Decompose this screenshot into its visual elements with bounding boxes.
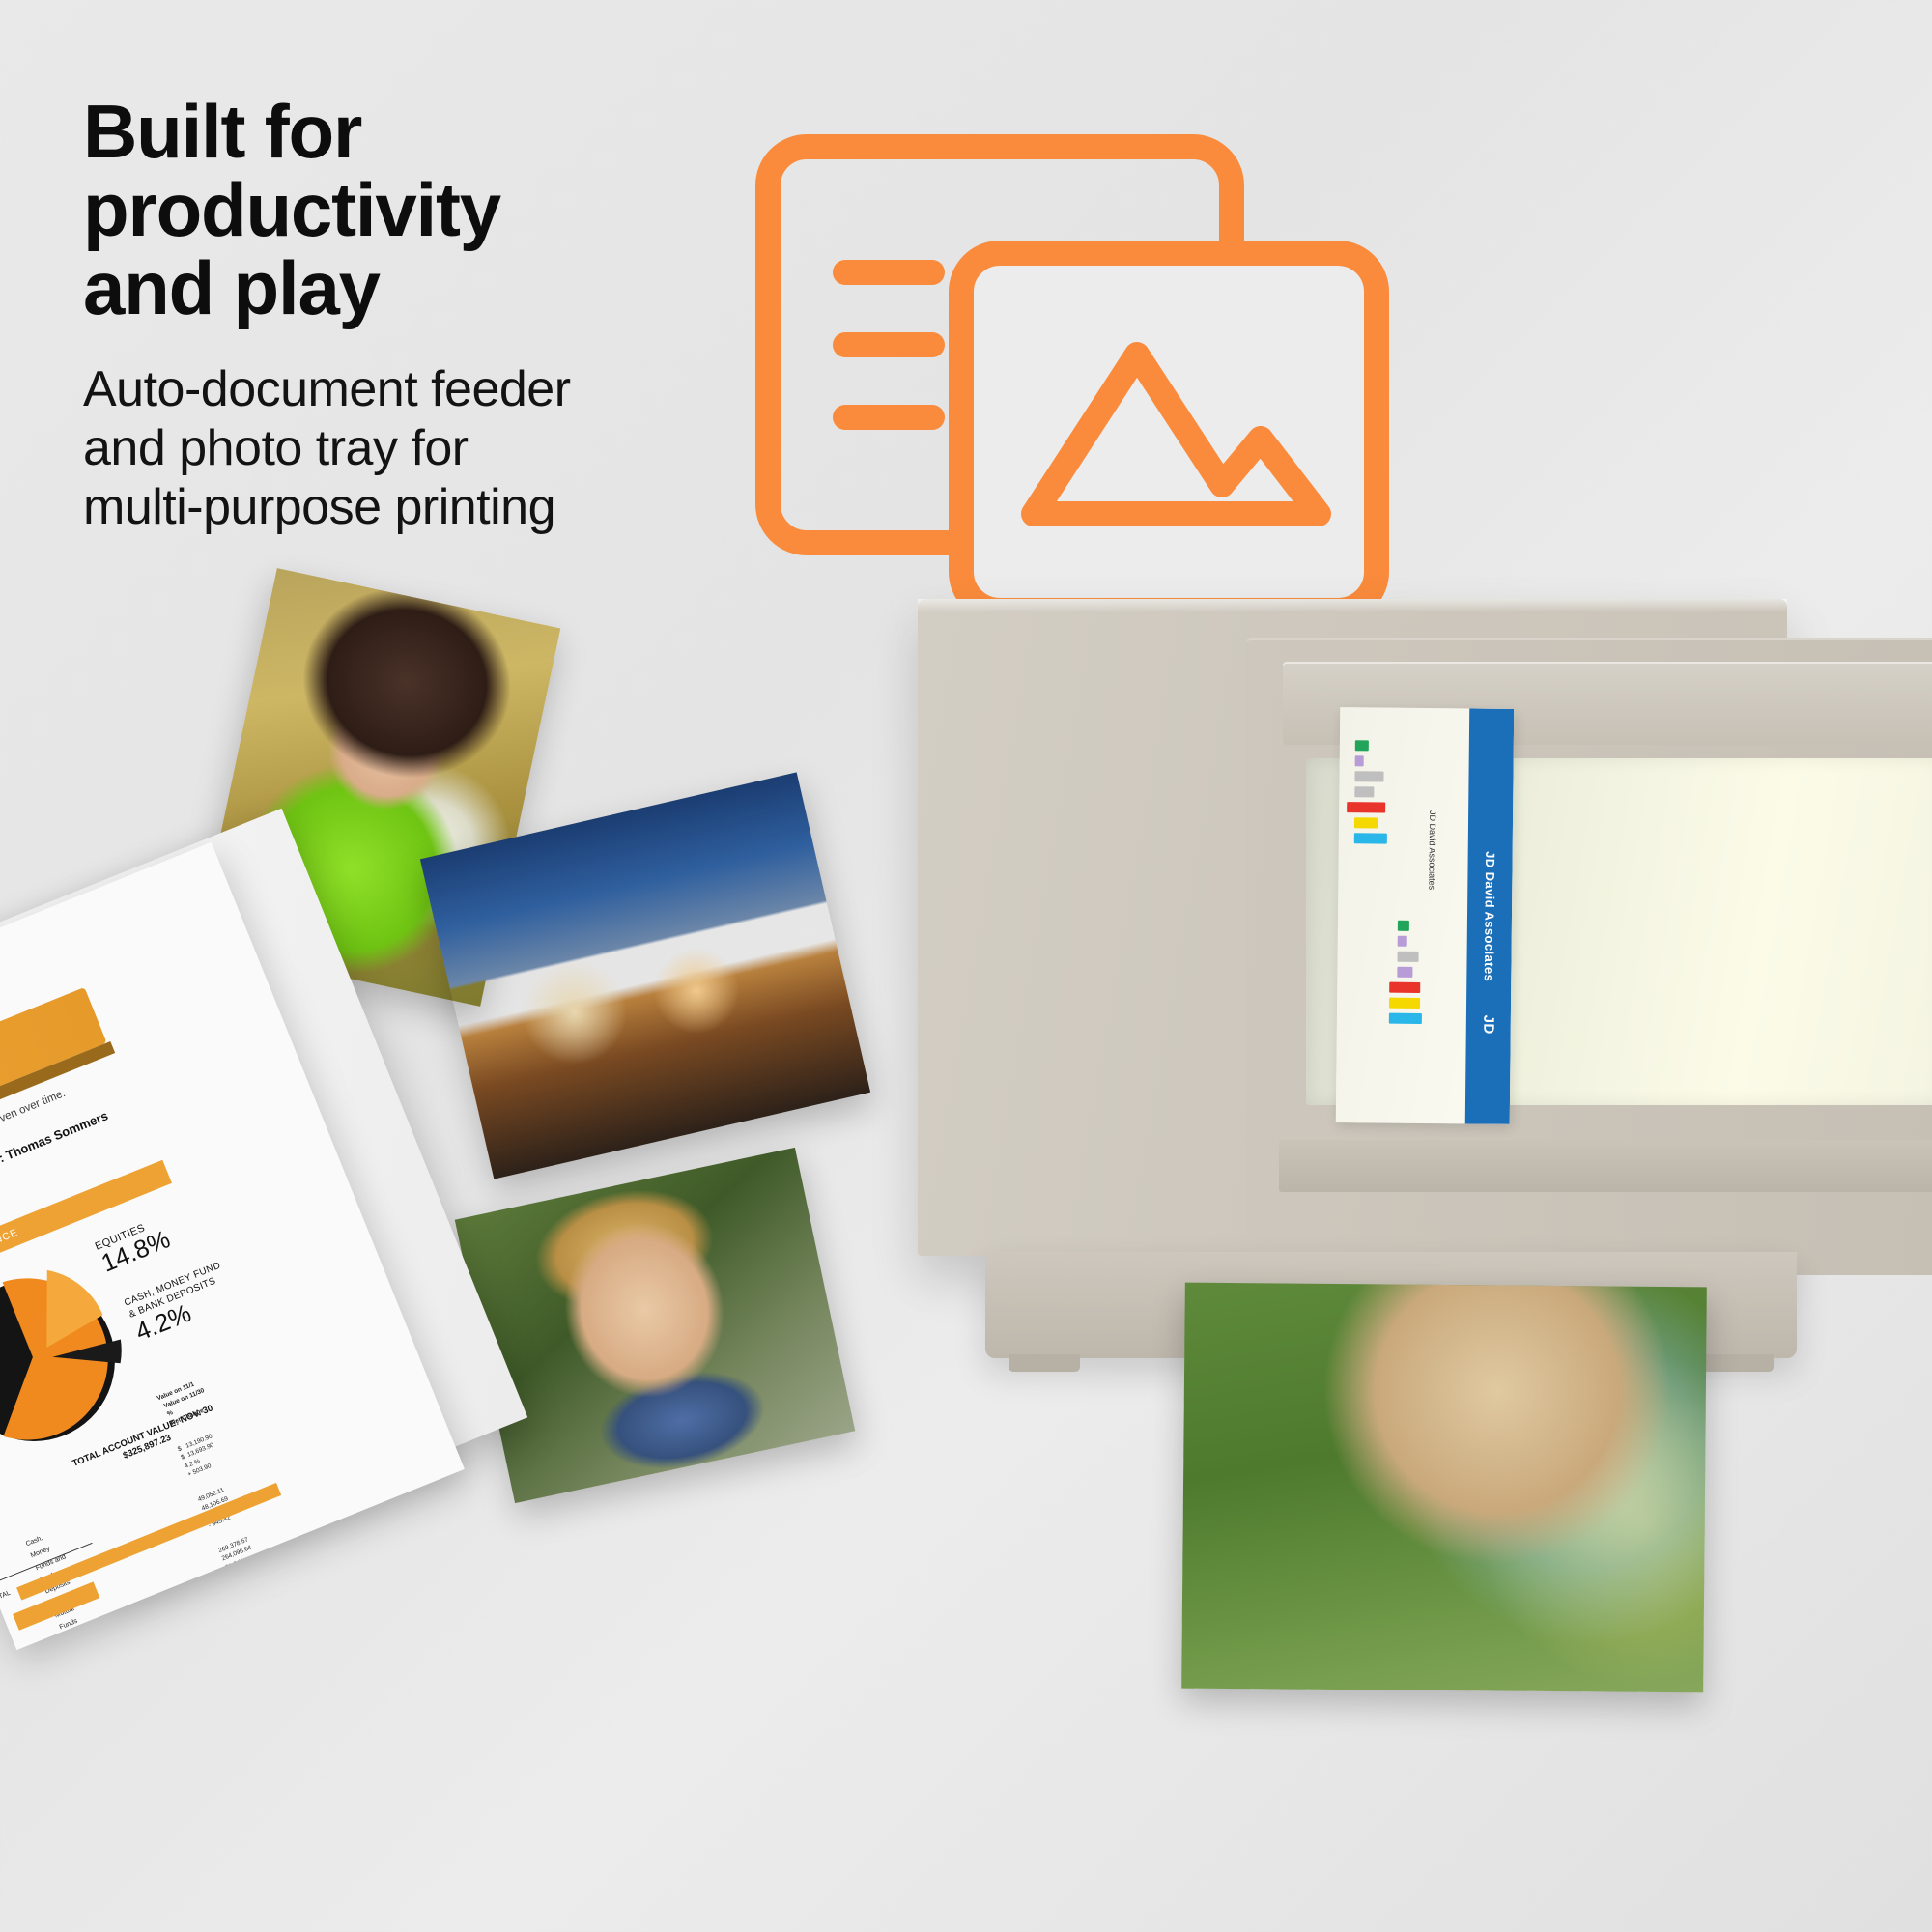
page-title: Built for productivity and play bbox=[83, 93, 721, 327]
table-row: 331,620.68 325,897.23 100.0% - 5,723.45 bbox=[221, 1572, 298, 1645]
printed-chart-sheet: JD David Associates JD David Associates … bbox=[1336, 707, 1514, 1124]
printed-bar-chart: JD David Associates bbox=[1342, 721, 1462, 1108]
copy-block: Built for productivity and play Auto-doc… bbox=[83, 93, 721, 537]
col-pct: % bbox=[166, 1409, 174, 1418]
headline-line-2: productivity bbox=[83, 171, 721, 249]
headline-line-1: Built for bbox=[83, 93, 721, 171]
legend-item: TOTAL bbox=[0, 1587, 13, 1607]
printer-foot-right bbox=[1702, 1354, 1774, 1372]
photo-boy-in-grass bbox=[455, 1148, 856, 1503]
sheet-brand-name: JD David Associates bbox=[1482, 851, 1497, 981]
document-legend: Cash Equit Mutu TOTAL Cash, Money Funds … bbox=[0, 1551, 13, 1607]
bar-group-upper bbox=[1353, 740, 1423, 929]
printer-tray-lip bbox=[1279, 1140, 1932, 1192]
bar-group-lower bbox=[1351, 935, 1421, 1124]
col-net-change: Net Change bbox=[170, 1407, 205, 1427]
pie-label-cash: CASH, MONEY FUND & BANK DEPOSITS 4.2% bbox=[123, 1261, 237, 1345]
chart-axis-title: JD David Associates bbox=[1427, 810, 1437, 890]
headline-line-3: and play bbox=[83, 249, 721, 327]
page-subtitle: Auto-document feeder and photo tray for … bbox=[83, 360, 721, 536]
subheading-line-1: Auto-document feeder bbox=[83, 360, 721, 419]
pie-label-equities: EQUITIES 14.8% bbox=[94, 1215, 174, 1276]
subheading-line-3: multi-purpose printing bbox=[83, 478, 721, 537]
sheet-brand-band: JD David Associates JD bbox=[1465, 708, 1515, 1123]
photo-mountain-icon bbox=[961, 253, 1377, 611]
printer-foot-left bbox=[1009, 1354, 1080, 1372]
document-photo-icon-group bbox=[720, 60, 1415, 639]
marketing-canvas: Built for productivity and play Auto-doc… bbox=[0, 0, 1932, 1932]
sheet-logo: JD bbox=[1480, 1014, 1496, 1034]
photo-child-blowing-bubbles bbox=[1181, 1283, 1707, 1693]
subheading-line-2: and photo tray for bbox=[83, 419, 721, 478]
